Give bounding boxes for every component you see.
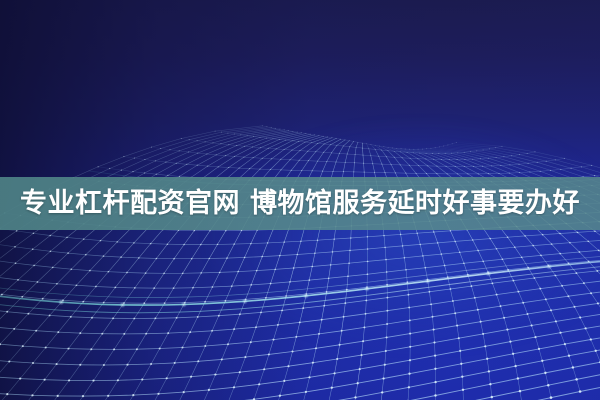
banner-root: 专业杠杆配资官网 博物馆服务延时好事要办好 xyxy=(0,0,600,400)
title-band: 专业杠杆配资官网 博物馆服务延时好事要办好 xyxy=(0,177,600,230)
page-title: 专业杠杆配资官网 博物馆服务延时好事要办好 xyxy=(20,190,580,217)
